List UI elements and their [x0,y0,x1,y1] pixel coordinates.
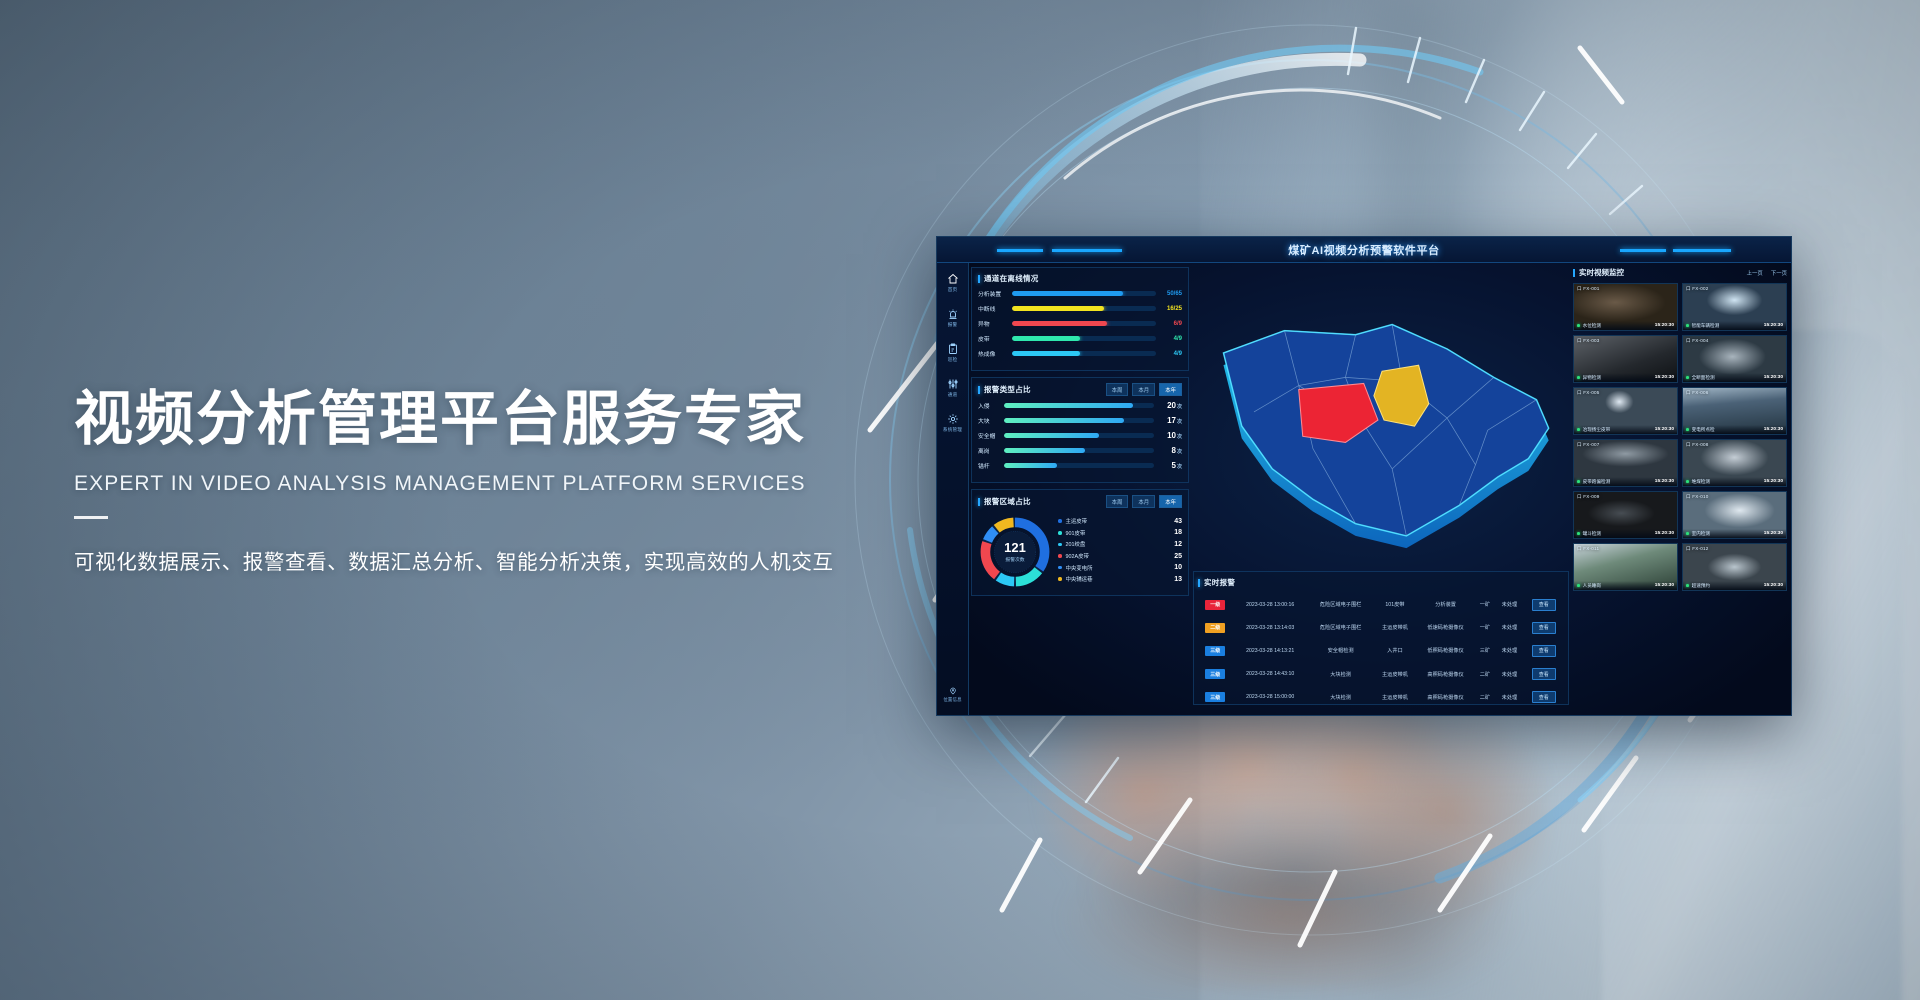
panel-tick [978,498,980,506]
channel-label: 分析装置 [978,289,1012,298]
alarm-type-row: 锚杆5次 [978,461,1182,470]
video-caption: 智能车辆检测 [1692,323,1720,329]
status-dot-icon [1686,532,1689,535]
legend-label: 201绞盘 [1066,540,1167,548]
video-timestamp: 15:20:30 [1764,323,1783,328]
video-tile[interactable]: 口 FX-012超速预约15:20:30 [1682,543,1787,591]
legend-label: 主运皮带 [1066,517,1167,525]
alarm-type-track [1004,418,1154,422]
alarm-action-cell: 查看 [1524,593,1564,616]
channel-label: 异物 [978,319,1012,328]
channel-status-list: 分析装置50/65中断线16/25异物6/9皮带4/9热成像4/9 [978,289,1182,358]
donut-chart: 121 报警次数 [978,515,1052,589]
dashboard-monitor: 煤矿AI视频分析预警软件平台 首页 报警 [936,236,1792,716]
legend-label: 中央辅运巷 [1066,575,1167,583]
video-pagination: 上一页 下一页 [1747,269,1787,277]
alarm-icon [938,308,968,320]
alarm-place-cell: 主运皮带机 [1373,616,1416,639]
view-button[interactable]: 查看 [1532,645,1556,657]
channel-progress-fill [1012,336,1080,341]
donut-legend: 主运皮带43901皮带18201绞盘12902A皮带25中央变电所10中央辅运巷… [1052,517,1182,587]
realtime-alarm-header: 实时报警 [1198,577,1564,588]
video-tile-footer: 变电所点检15:20:30 [1683,425,1786,434]
video-tile-footer: 水位检测15:20:30 [1574,321,1677,330]
alarm-place-cell: 主运皮带机 [1373,686,1416,709]
alarm-device-cell: 低速码枪摄像仪 [1417,616,1475,639]
alarm-type-row: 离岗8次 [978,446,1182,455]
view-button[interactable]: 查看 [1532,599,1556,611]
video-timestamp: 15:20:30 [1764,583,1783,588]
video-tile-footer: 智能车辆检测15:20:30 [1683,321,1786,330]
alarm-type-panel: 报警类型占比 本周本月本年 入侵20次大块17次安全帽10次离岗8次锚杆5次 [971,377,1189,483]
alarm-type-cell: 大块检测 [1308,663,1374,686]
view-button[interactable]: 查看 [1532,668,1556,680]
video-id-label: 口 FX-006 [1686,390,1709,396]
channel-value: 6/9 [1156,321,1182,327]
range-tab[interactable]: 本月 [1132,495,1155,508]
legend-color-dot [1058,531,1062,535]
video-grid: 口 FX-001水位检测15:20:30口 FX-002智能车辆检测15:20:… [1573,283,1787,591]
alarm-area-panel-title: 报警区域占比 [984,496,1031,507]
status-dot-icon [1577,376,1580,379]
status-dot-icon [1686,428,1689,431]
donut-caption: 报警次数 [1004,556,1026,563]
alarm-type-track [1004,448,1154,452]
sidebar-label-system: 系统管理 [938,427,968,433]
alarm-area-range-tabs: 本周本月本年 [1106,495,1182,508]
panel-tick [978,275,980,283]
video-tile[interactable]: 口 FX-011人员睡岗15:20:30 [1573,543,1678,591]
alarm-place-cell: 主运皮带机 [1373,663,1416,686]
video-id-label: 口 FX-003 [1577,338,1600,344]
realtime-alarm-panel: 实时报警 一级2023-03-28 13:00:16危险区域电子围栏101皮带分… [1193,571,1569,705]
alarm-action-cell: 查看 [1524,686,1564,709]
video-timestamp: 15:20:30 [1764,375,1783,380]
center-column: 实时报警 一级2023-03-28 13:00:16危险区域电子围栏101皮带分… [1193,267,1569,711]
alarm-type-row: 入侵20次 [978,401,1182,410]
alarm-type-cell: 危险区域电子围栏 [1308,593,1374,616]
alarm-type-fill [1004,403,1133,407]
channel-value: 16/25 [1156,306,1182,312]
video-timestamp: 15:20:30 [1764,427,1783,432]
alarm-type-label: 安全帽 [978,431,1004,440]
alarm-level-cell: 三级 [1198,639,1233,662]
donut-total: 121 [1004,541,1026,554]
video-id-label: 口 FX-004 [1686,338,1709,344]
legend-color-dot [1058,566,1062,570]
range-tab[interactable]: 本年 [1159,383,1182,396]
map-svg [1193,269,1569,598]
video-timestamp: 15:20:30 [1655,375,1674,380]
video-id-label: 口 FX-001 [1577,286,1600,292]
legend-label: 901皮带 [1066,529,1167,537]
hero-copy: 视频分析管理平台服务专家 EXPERT IN VIDEO ANALYSIS MA… [74,388,914,575]
sliders-icon [938,378,968,390]
panel-tick [978,386,980,394]
video-id-label: 口 FX-012 [1686,546,1709,552]
channel-label: 热成像 [978,349,1012,358]
alarm-status-cell: 未处理 [1495,616,1523,639]
sidebar-item-inspection[interactable]: 巡检 [938,343,968,363]
channel-panel-title: 通道在离线情况 [984,273,1039,284]
table-row: 三级2023-03-28 14:13:21安全帽检测入井口低照码枪摄像仪三矿未处… [1198,639,1564,662]
alarm-type-unit: 次 [1177,449,1182,455]
status-dot-icon [1577,532,1580,535]
alarm-type-fill [1004,418,1124,422]
alarm-type-fill [1004,448,1085,452]
video-timestamp: 15:20:30 [1655,531,1674,536]
range-tab[interactable]: 本周 [1106,495,1129,508]
video-tile[interactable]: 口 FX-010室内检测15:20:30 [1682,491,1787,539]
legend-item: 201绞盘12 [1058,540,1182,548]
alarm-type-unit: 次 [1177,404,1182,410]
alarm-type-panel-title: 报警类型占比 [984,384,1031,395]
video-panel-title: 实时视频监控 [1579,267,1624,278]
table-row: 一级2023-03-28 13:00:16危险区域电子围栏101皮带分析装置一矿… [1198,593,1564,616]
video-caption: 超速预约 [1692,583,1710,589]
range-tab[interactable]: 本周 [1106,383,1129,396]
video-tile[interactable]: 口 FX-004全断面检测15:20:30 [1682,335,1787,383]
alarm-type-unit: 次 [1177,434,1182,440]
table-row: 二级2023-03-28 13:14:03危险区域电子围栏主运皮带机低速码枪摄像… [1198,616,1564,639]
alarm-level-cell: 一级 [1198,593,1233,616]
alarm-status-cell: 未处理 [1495,639,1523,662]
status-dot-icon [1577,480,1580,483]
video-tile[interactable]: 口 FX-001水位检测15:20:30 [1573,283,1678,331]
view-button[interactable]: 查看 [1532,691,1556,703]
alarm-type-label: 入侵 [978,401,1004,410]
video-tile[interactable]: 口 FX-005冶现扬尘皮带15:20:30 [1573,387,1678,435]
sidebar-label-alarm: 报警 [938,322,968,328]
alarm-area-panel: 报警区域占比 本周本月本年 121 报警次数 主运皮带43901皮带18201绞… [971,489,1189,596]
legend-color-dot [1058,543,1062,547]
alarm-device-cell: 低照码枪摄像仪 [1417,639,1475,662]
alarm-type-unit: 次 [1177,419,1182,425]
alarm-type-row: 大块17次 [978,416,1182,425]
alarm-type-label: 离岗 [978,446,1004,455]
video-tile[interactable]: 口 FX-006变电所点检15:20:30 [1682,387,1787,435]
status-badge: 三级 [1205,646,1225,656]
alarm-type-value: 8次 [1154,446,1182,455]
alarm-status-cell: 未处理 [1495,593,1523,616]
alarm-place-cell: 入井口 [1373,639,1416,662]
alarm-level-cell: 三级 [1198,686,1233,709]
alarm-type-unit: 次 [1177,464,1182,470]
realtime-alarm-title: 实时报警 [1204,577,1235,588]
channel-progress-track [1012,306,1156,311]
channel-progress-track [1012,336,1156,341]
alarm-level-cell: 二级 [1198,616,1233,639]
divider-rule [74,516,108,519]
alarm-action-cell: 查看 [1524,616,1564,639]
sidebar-item-system[interactable]: 系统管理 [938,413,968,433]
alarm-type-track [1004,463,1154,467]
alarm-type-value: 20次 [1154,401,1182,410]
alarm-type-cell: 安全帽检测 [1308,639,1374,662]
alarm-place-cell: 101皮带 [1373,593,1416,616]
table-row: 三级2023-03-28 14:43:10大块检测主运皮带机高照码枪摄像仪二矿未… [1198,663,1564,686]
channel-label: 皮带 [978,334,1012,343]
alarm-status-cell: 未处理 [1495,686,1523,709]
alarm-mine-cell: 二矿 [1475,686,1496,709]
video-tile-footer: 全断面检测15:20:30 [1683,373,1786,382]
alarm-type-panel-header: 报警类型占比 本周本月本年 [978,383,1182,396]
channel-progress-fill [1012,291,1123,296]
legend-value: 18 [1166,529,1182,536]
alarm-time-cell: 2023-03-28 14:13:21 [1233,639,1308,662]
status-badge: 三级 [1205,692,1225,702]
alarm-mine-cell: 一矿 [1475,593,1496,616]
sidebar-label-channel: 通道 [938,392,968,398]
channel-value: 4/9 [1156,351,1182,357]
video-caption: 人员睡岗 [1583,583,1601,589]
range-tab[interactable]: 本年 [1159,495,1182,508]
video-tile-footer: 异物检测15:20:30 [1574,373,1677,382]
video-caption: 罐斗检测 [1583,531,1601,537]
channel-progress-track [1012,321,1156,326]
alarm-type-track [1004,403,1154,407]
location-icon [937,687,968,695]
sidebar-label-home: 首页 [938,287,968,293]
channel-label: 中断线 [978,304,1012,313]
clipboard-icon [938,343,968,355]
legend-color-dot [1058,577,1062,581]
legend-value: 25 [1166,553,1182,560]
video-caption: 水位检测 [1583,323,1601,329]
alarm-mine-cell: 三矿 [1475,639,1496,662]
page-title: 视频分析管理平台服务专家 [74,388,914,452]
prev-page-button[interactable]: 上一页 [1747,269,1763,277]
channel-value: 4/9 [1156,336,1182,342]
right-column: 实时视频监控 上一页 下一页 口 FX-001水位检测15:20:30口 FX-… [1573,267,1787,711]
alarm-mine-cell: 二矿 [1475,663,1496,686]
hero-description: 可视化数据展示、报警查看、数据汇总分析、智能分析决策，实现高效的人机交互 [74,545,914,575]
alarm-type-cell: 危险区域电子围栏 [1308,616,1374,639]
legend-item: 901皮带18 [1058,529,1182,537]
alarm-time-cell: 2023-03-28 15:00:00 [1233,686,1308,709]
video-timestamp: 15:20:30 [1655,583,1674,588]
alarm-type-row: 安全帽10次 [978,431,1182,440]
donut-center: 121 报警次数 [1004,541,1026,563]
status-dot-icon [1577,324,1580,327]
legend-color-dot [1058,554,1062,558]
video-id-label: 口 FX-011 [1577,546,1599,552]
legend-value: 13 [1166,576,1182,583]
alarm-time-cell: 2023-03-28 13:00:16 [1233,593,1308,616]
alarm-level-cell: 三级 [1198,663,1233,686]
video-tile-footer: 罐斗检测15:20:30 [1574,529,1677,538]
video-panel-header: 实时视频监控 上一页 下一页 [1573,267,1787,278]
channel-progress-track [1012,291,1156,296]
video-caption: 皮带跑偏检测 [1583,479,1611,485]
video-caption: 冶现扬尘皮带 [1583,427,1611,433]
legend-item: 中央辅运巷13 [1058,575,1182,583]
video-caption: 变电所点检 [1692,427,1715,433]
status-dot-icon [1686,324,1689,327]
alarm-time-cell: 2023-03-28 13:14:03 [1233,616,1308,639]
video-id-label: 口 FX-009 [1577,494,1600,500]
video-tile-footer: 室内检测15:20:30 [1683,529,1786,538]
video-caption: 全断面检测 [1692,375,1715,381]
video-caption: 堆煤检测 [1692,479,1710,485]
home-icon [938,273,968,285]
legend-item: 中央变电所10 [1058,564,1182,572]
dashboard-screen: 煤矿AI视频分析预警软件平台 首页 报警 [937,237,1791,715]
video-tile-footer: 人员睡岗15:20:30 [1574,581,1677,590]
alarm-time-cell: 2023-03-28 14:43:10 [1233,663,1308,686]
sidebar-label-inspection: 巡检 [938,357,968,363]
video-tile[interactable]: 口 FX-007皮带跑偏检测15:20:30 [1573,439,1678,487]
table-row: 三级2023-03-28 15:00:00大块检测主运皮带机高照码枪摄像仪二矿未… [1198,686,1564,709]
panel-tick [1198,579,1200,587]
channel-progress-fill [1012,306,1104,311]
video-timestamp: 15:20:30 [1764,479,1783,484]
channel-status-panel: 通道在离线情况 分析装置50/65中断线16/25异物6/9皮带4/9热成像4/… [971,267,1189,371]
channel-progress-fill [1012,321,1107,326]
status-dot-icon [1686,480,1689,483]
channel-status-row: 热成像4/9 [978,349,1182,358]
legend-label: 902A皮带 [1066,552,1167,560]
channel-status-row: 异物6/9 [978,319,1182,328]
video-tile[interactable]: 口 FX-008堆煤检测15:20:30 [1682,439,1787,487]
alarm-device-cell: 高照码枪摄像仪 [1417,663,1475,686]
legend-item: 902A皮带25 [1058,552,1182,560]
next-page-button[interactable]: 下一页 [1771,269,1787,277]
channel-status-row: 中断线16/25 [978,304,1182,313]
video-timestamp: 15:20:30 [1655,479,1674,484]
alarm-type-value: 10次 [1154,431,1182,440]
legend-value: 12 [1166,541,1182,548]
alarm-type-label: 锚杆 [978,461,1004,470]
channel-value: 50/65 [1156,291,1182,297]
video-timestamp: 15:20:30 [1655,427,1674,432]
channel-status-row: 分析装置50/65 [978,289,1182,298]
video-id-label: 口 FX-007 [1577,442,1600,448]
legend-label: 中央变电所 [1066,564,1167,572]
status-dot-icon [1577,584,1580,587]
alarm-type-label: 大块 [978,416,1004,425]
map-body [1223,325,1548,536]
alarm-type-range-tabs: 本周本月本年 [1106,383,1182,396]
alarm-action-cell: 查看 [1524,639,1564,662]
sidebar-item-alarm[interactable]: 报警 [938,308,968,328]
legend-color-dot [1058,519,1062,523]
status-badge: 一级 [1205,600,1225,610]
video-id-label: 口 FX-008 [1686,442,1709,448]
video-tile-footer: 皮带跑偏检测15:20:30 [1574,477,1677,486]
dashboard-title: 煤矿AI视频分析预警软件平台 [937,242,1791,258]
gear-icon [938,413,968,425]
status-dot-icon [1686,376,1689,379]
sidebar-item-home[interactable]: 首页 [938,273,968,293]
video-id-label: 口 FX-005 [1577,390,1600,396]
channel-status-row: 皮带4/9 [978,334,1182,343]
alarm-type-value: 17次 [1154,416,1182,425]
sidebar-footer-label: 位置信息 [937,697,968,703]
video-caption: 异物检测 [1583,375,1601,381]
realtime-alarm-table: 一级2023-03-28 13:00:16危险区域电子围栏101皮带分析装置一矿… [1198,593,1564,709]
alarm-mine-cell: 一矿 [1475,616,1496,639]
status-badge: 三级 [1205,669,1225,679]
alarm-type-list: 入侵20次大块17次安全帽10次离岗8次锚杆5次 [978,401,1182,470]
video-id-label: 口 FX-002 [1686,286,1709,292]
legend-value: 10 [1166,564,1182,571]
video-tile[interactable]: 口 FX-009罐斗检测15:20:30 [1573,491,1678,539]
video-caption: 室内检测 [1692,531,1710,537]
video-tile[interactable]: 口 FX-003异物检测15:20:30 [1573,335,1678,383]
legend-item: 主运皮带43 [1058,517,1182,525]
video-timestamp: 15:20:30 [1655,323,1674,328]
sidebar-footer: 位置信息 [937,687,968,703]
alarm-area-chart: 121 报警次数 主运皮带43901皮带18201绞盘12902A皮带25中央变… [978,513,1182,589]
video-id-label: 口 FX-010 [1686,494,1709,500]
video-tile-footer: 超速预约15:20:30 [1683,581,1786,590]
alarm-action-cell: 查看 [1524,663,1564,686]
alarm-type-fill [1004,433,1099,437]
video-tile[interactable]: 口 FX-002智能车辆检测15:20:30 [1682,283,1787,331]
panel-tick [1573,269,1575,277]
sidebar-item-channel[interactable]: 通道 [938,378,968,398]
hero-subtitle: EXPERT IN VIDEO ANALYSIS MANAGEMENT PLAT… [74,472,914,496]
alarm-area-panel-header: 报警区域占比 本周本月本年 [978,495,1182,508]
alarm-device-cell: 高照码枪摄像仪 [1417,686,1475,709]
alarm-type-track [1004,433,1154,437]
channel-progress-fill [1012,351,1080,356]
left-column: 通道在离线情况 分析装置50/65中断线16/25异物6/9皮带4/9热成像4/… [971,267,1189,711]
alarm-status-cell: 未处理 [1495,663,1523,686]
dashboard-sidebar: 首页 报警 巡检 [937,263,969,715]
alarm-device-cell: 分析装置 [1417,593,1475,616]
alarm-type-fill [1004,463,1057,467]
channel-panel-header: 通道在离线情况 [978,273,1182,284]
status-dot-icon [1577,428,1580,431]
video-tile-footer: 堆煤检测15:20:30 [1683,477,1786,486]
video-tile-footer: 冶现扬尘皮带15:20:30 [1574,425,1677,434]
status-dot-icon [1686,584,1689,587]
video-timestamp: 15:20:30 [1764,531,1783,536]
channel-progress-track [1012,351,1156,356]
alarm-type-cell: 大块检测 [1308,686,1374,709]
range-tab[interactable]: 本月 [1132,383,1155,396]
legend-value: 43 [1166,518,1182,525]
alarm-type-value: 5次 [1154,461,1182,470]
view-button[interactable]: 查看 [1532,622,1556,634]
status-badge: 二级 [1205,623,1225,633]
